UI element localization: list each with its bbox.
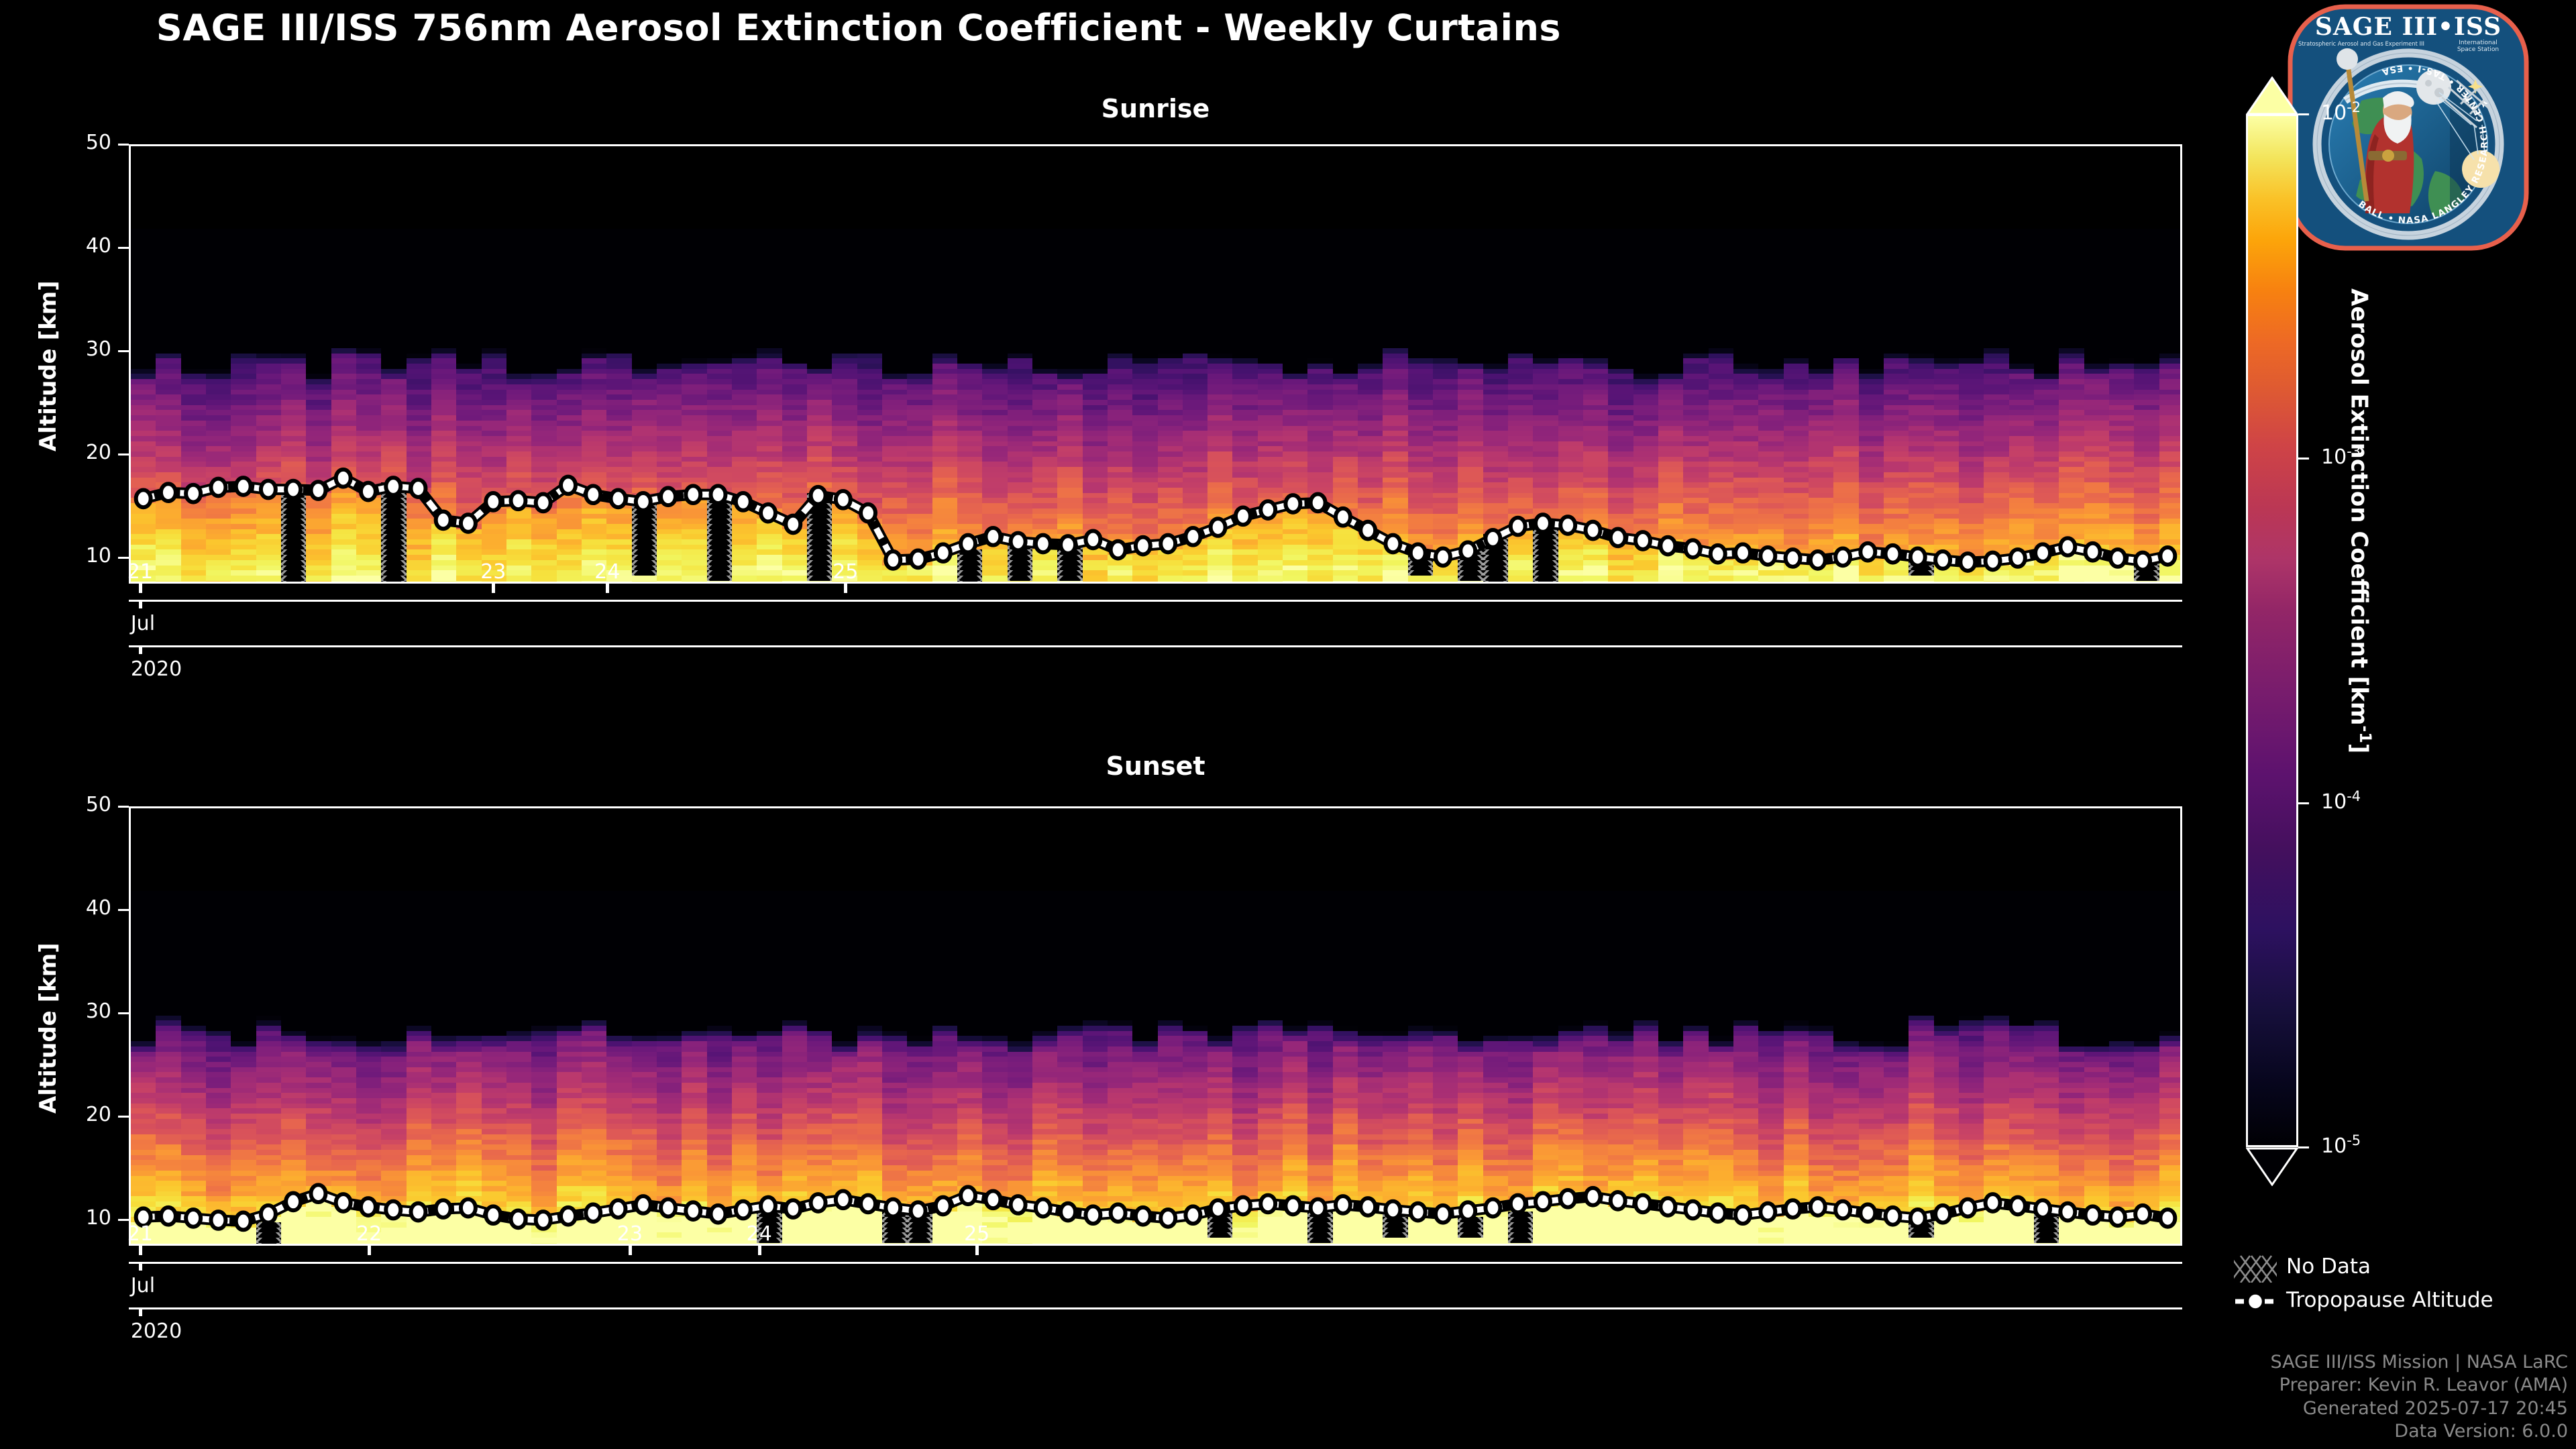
axes-sunrise[interactable] <box>129 144 2182 584</box>
panels-container: Sunrise5040302010Altitude [km]21232425Ju… <box>0 0 2576 1449</box>
figure-canvas: SAGE III/ISS 756nm Aerosol Extinction Co… <box>0 0 2576 1449</box>
panel-title-sunrise: Sunrise <box>129 94 2182 123</box>
